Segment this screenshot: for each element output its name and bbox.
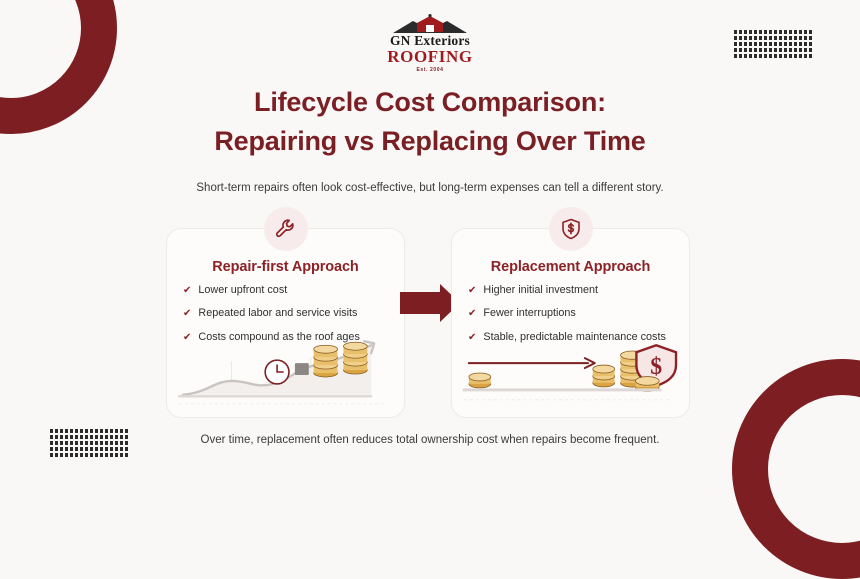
- check-icon: ✔: [183, 283, 191, 298]
- list-item: ✔ Repeated labor and service visits: [183, 306, 392, 321]
- check-icon: ✔: [468, 283, 476, 298]
- list-item-label: Lower upfront cost: [198, 283, 287, 298]
- card-replacement: Replacement Approach ✔ Higher initial in…: [451, 228, 690, 418]
- decorative-ring-bottom-right: [732, 359, 860, 579]
- brand-logo: GN Exteriors ROOFING Est. 2004: [0, 14, 860, 73]
- card-title-replacement: Replacement Approach: [452, 259, 689, 275]
- page-title-line2: Repairing vs Replacing Over Time: [214, 126, 645, 156]
- card-repair-first: Repair-first Approach ✔ Lower upfront co…: [166, 228, 405, 418]
- brand-established: Est. 2004: [416, 67, 443, 73]
- rising-cost-chart-illustration: [177, 337, 394, 409]
- list-item-label: Higher initial investment: [483, 283, 598, 298]
- footer-note: Over time, replacement often reduces tot…: [0, 432, 860, 448]
- check-icon: ✔: [183, 306, 191, 321]
- page-title-line1: Lifecycle Cost Comparison:: [254, 87, 606, 117]
- brand-word: ROOFING: [387, 48, 472, 66]
- flat-cost-illustration: $: [462, 337, 679, 409]
- roof-house-icon: [387, 14, 473, 34]
- check-icon: ✔: [468, 306, 476, 321]
- list-item: ✔ Lower upfront cost: [183, 283, 392, 298]
- list-item-label: Repeated labor and service visits: [198, 306, 357, 321]
- svg-text:$: $: [650, 354, 662, 380]
- list-item: ✔ Higher initial investment: [468, 283, 677, 298]
- clock-icon: [265, 360, 289, 384]
- brand-name: GN Exteriors: [390, 34, 470, 48]
- page-title: Lifecycle Cost Comparison: Repairing vs …: [0, 83, 860, 160]
- wrench-icon: [264, 207, 308, 251]
- shield-dollar-icon: [549, 207, 593, 251]
- list-item: ✔ Fewer interruptions: [468, 306, 677, 321]
- page-subtitle: Short-term repairs often look cost-effec…: [0, 180, 860, 196]
- list-item-label: Fewer interruptions: [483, 306, 575, 321]
- card-title-repair-first: Repair-first Approach: [167, 259, 404, 275]
